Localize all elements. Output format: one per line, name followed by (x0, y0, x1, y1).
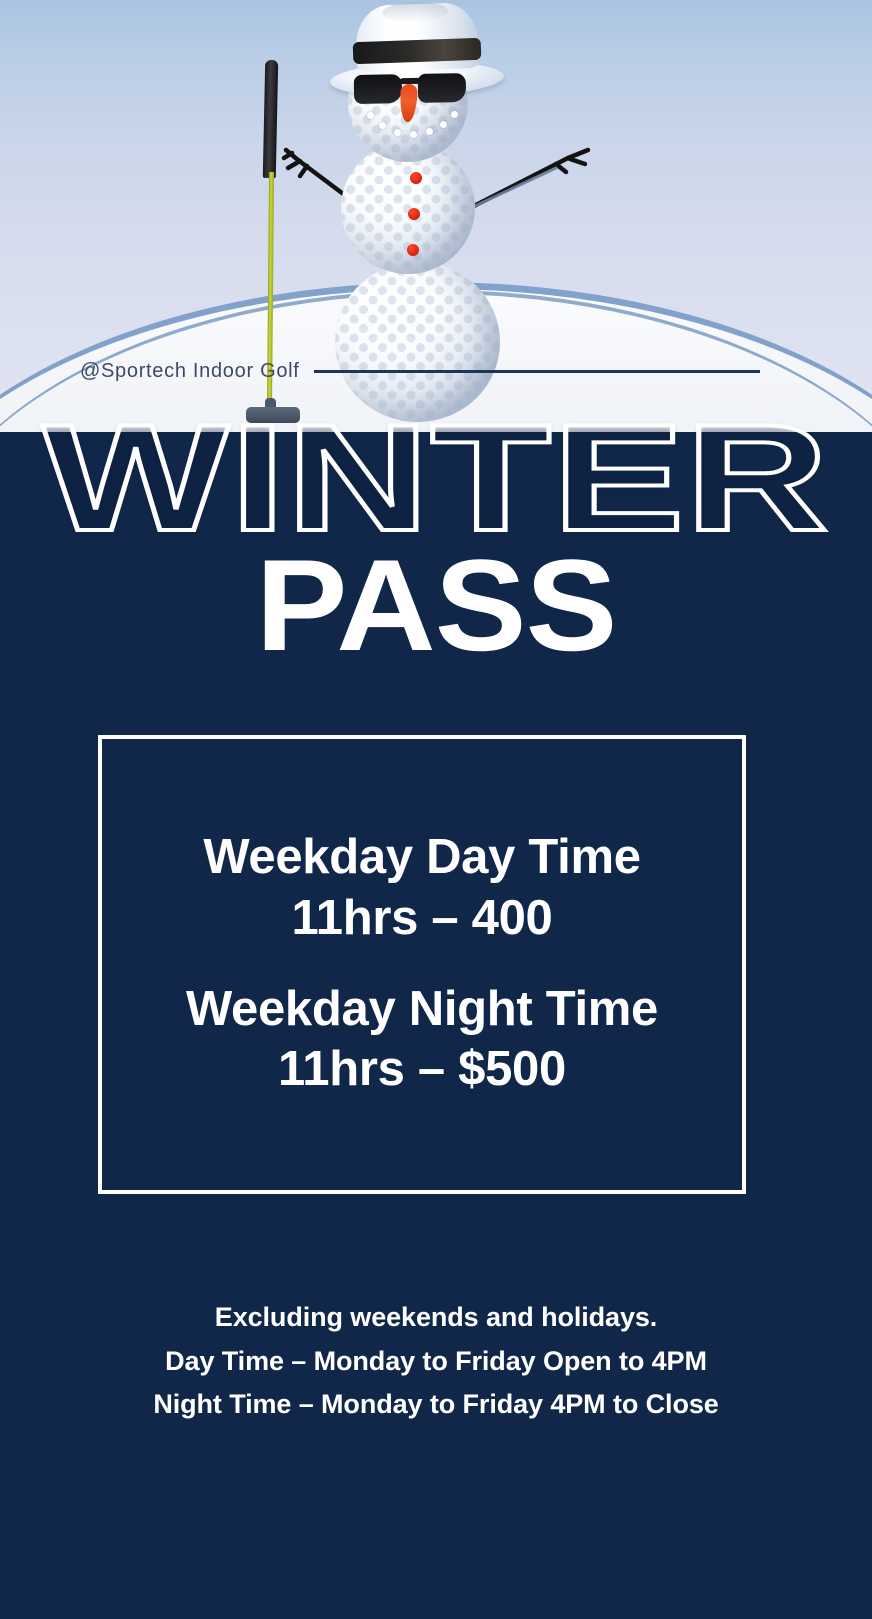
offer-daytime: Weekday Day Time 11hrs – 400 (203, 830, 640, 948)
brand-handle-row: @Sportech Indoor Golf (80, 358, 760, 384)
offer-title: Weekday Night Time (186, 982, 658, 1038)
terms-line: Excluding weekends and holidays. (0, 1296, 872, 1340)
smile-dots (365, 110, 457, 144)
headline-pass: PASS (0, 540, 872, 670)
pricing-box: Weekday Day Time 11hrs – 400 Weekday Nig… (98, 735, 746, 1194)
fedora-band (353, 38, 482, 64)
offer-price: 11hrs – $500 (186, 1041, 658, 1099)
winter-pass-poster: @Sportech Indoor Golf WINTER PASS Weekda… (0, 0, 872, 1619)
sunglasses-lens-right (418, 73, 466, 103)
brand-handle: @Sportech Indoor Golf (80, 360, 300, 383)
offer-title: Weekday Day Time (203, 830, 640, 886)
handle-divider (314, 370, 760, 373)
terms-notes: Excluding weekends and holidays. Day Tim… (0, 1296, 872, 1427)
offer-nighttime: Weekday Night Time 11hrs – $500 (186, 982, 658, 1100)
offer-price: 11hrs – 400 (203, 890, 640, 948)
snowman-button (407, 244, 419, 256)
snowman-button (408, 208, 420, 220)
sunglasses-lens-left (354, 74, 402, 104)
terms-line: Day Time – Monday to Friday Open to 4PM (0, 1340, 872, 1384)
snowman-button (410, 172, 422, 184)
terms-line: Night Time – Monday to Friday 4PM to Clo… (0, 1383, 872, 1427)
